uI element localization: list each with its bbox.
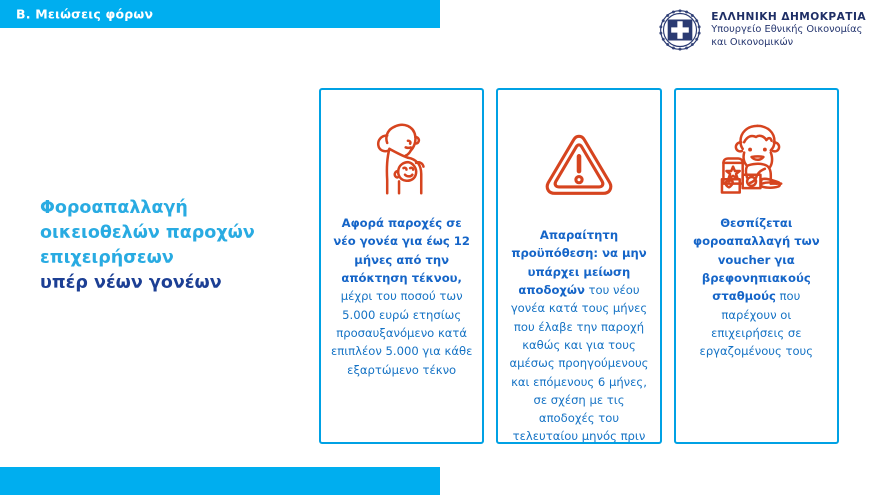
info-card-text-bold: Αφορά παροχές σε νέο γονέα για έως 12 μή…	[333, 216, 470, 285]
logo-line-republic: ΕΛΛΗΝΙΚΗ ΔΗΜΟΚΡΑΤΙΑ	[711, 11, 866, 25]
section-heading-line-4: υπέρ νέων γονέων	[40, 271, 302, 296]
info-card-text: Αφορά παροχές σε νέο γονέα για έως 12 μή…	[330, 214, 473, 379]
page-title: B. Μειώσεις φόρων	[16, 7, 153, 22]
child-with-toy-blocks-icon	[719, 116, 793, 198]
info-card-text-bold: Θεσπίζεται φοροαπαλλαγή των voucher για …	[693, 216, 820, 303]
info-card-parental-benefit: Αφορά παροχές σε νέο γονέα για έως 12 μή…	[319, 88, 484, 444]
logo-text-block: ΕΛΛΗΝΙΚΗ ΔΗΜΟΚΡΑΤΙΑ Υπουργείο Εθνικής Οι…	[711, 11, 866, 50]
government-logo: ΕΛΛΗΝΙΚΗ ΔΗΜΟΚΡΑΤΙΑ Υπουργείο Εθνικής Οι…	[658, 8, 866, 52]
section-heading-line-1: Φοροαπαλλαγή	[40, 196, 302, 221]
info-card-group: Αφορά παροχές σε νέο γονέα για έως 12 μή…	[319, 88, 839, 444]
mother-holding-baby-icon	[365, 116, 439, 198]
info-card-text: Θεσπίζεται φοροαπαλλαγή των voucher για …	[685, 214, 828, 361]
section-heading-line-2: οικειοθελών παροχών	[40, 221, 302, 246]
logo-line-ministry-1: Υπουργείο Εθνικής Οικονομίας	[711, 24, 866, 37]
warning-triangle-icon	[542, 122, 616, 204]
info-card-text-regular: μέχρι του ποσού των 5.000 ευρώ ετησίως π…	[331, 289, 472, 376]
section-heading-line-3: επιχειρήσεων	[40, 246, 302, 271]
greek-republic-emblem-icon	[658, 8, 702, 52]
info-card-voucher: Θεσπίζεται φοροαπαλλαγή των voucher για …	[674, 88, 839, 444]
info-card-text-regular: του νέου γονέα κατά τους μήνες που έλαβε…	[509, 283, 648, 444]
info-card-condition: Απαραίτητη προϋπόθεση: να μην υπάρχει με…	[496, 88, 661, 444]
info-card-text: Απαραίτητη προϋπόθεση: να μην υπάρχει με…	[507, 226, 650, 444]
section-heading: Φοροαπαλλαγή οικειοθελών παροχών επιχειρ…	[40, 196, 302, 296]
logo-line-ministry-2: και Οικονομικών	[711, 37, 866, 50]
footer-bar	[0, 467, 440, 495]
header-bar: B. Μειώσεις φόρων	[0, 0, 440, 28]
